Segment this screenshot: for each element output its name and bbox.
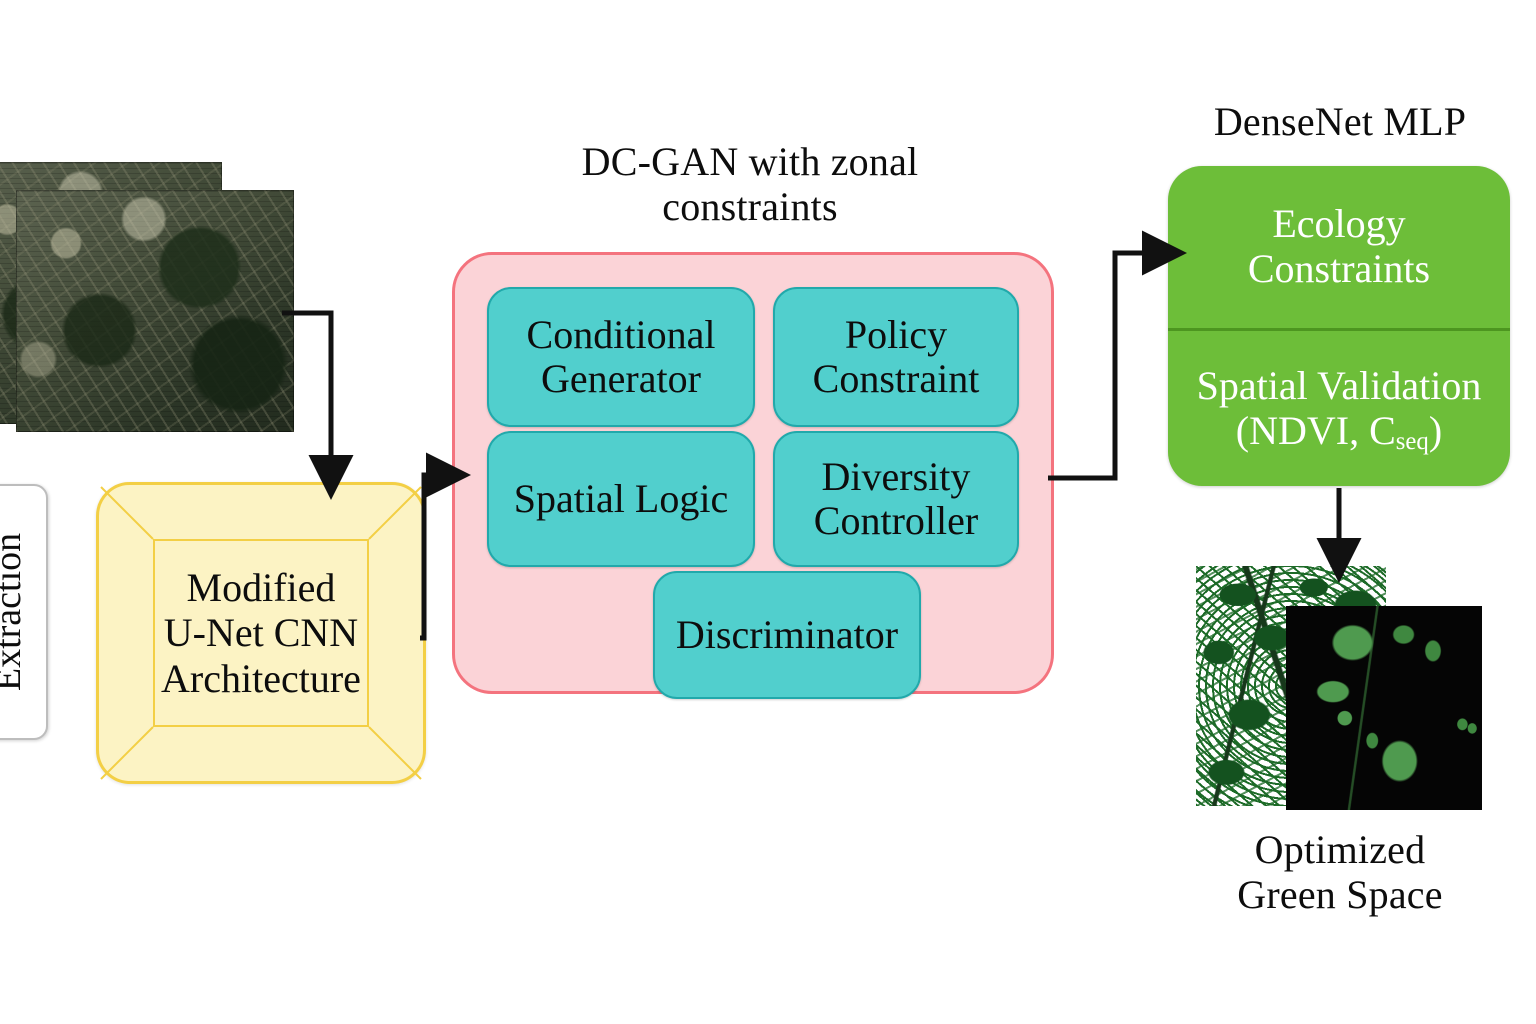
unet-architecture-box[interactable]: Modified U-Net CNN Architecture — [96, 482, 426, 784]
gan-title-line-2: constraints — [662, 184, 838, 229]
module-spatial-logic[interactable]: Spatial Logic — [487, 431, 755, 567]
arrow-gan-to-densenet — [1048, 253, 1152, 478]
unet-label-line-1: Modified — [187, 565, 336, 610]
satellite-image-front — [16, 190, 294, 432]
spatial-validation-line-1: Spatial Validation — [1197, 363, 1482, 408]
ecology-constraints-line-2: Constraints — [1248, 246, 1430, 291]
diversity-controller-line-1: Diversity — [822, 454, 971, 499]
unet-label: Modified U-Net CNN Architecture — [99, 485, 423, 781]
unet-label-line-3: Architecture — [161, 656, 361, 701]
output-caption-line-2: Green Space — [1237, 872, 1442, 917]
densenet-title-text: DenseNet MLP — [1214, 99, 1466, 144]
extraction-label: Extraction — [0, 533, 30, 691]
densenet-cell-ecology-constraints: Ecology Constraints — [1168, 166, 1510, 328]
diagram-canvas: Extraction Modified U-Net CNN Architectu… — [0, 0, 1536, 1024]
module-discriminator[interactable]: Discriminator — [653, 571, 921, 699]
policy-constraint-line-2: Constraint — [813, 356, 980, 401]
gan-section-title: DC-GAN with zonal constraints — [470, 140, 1030, 230]
module-diversity-controller[interactable]: Diversity Controller — [773, 431, 1019, 567]
discriminator-label: Discriminator — [676, 613, 898, 657]
conditional-generator-line-1: Conditional — [527, 312, 716, 357]
spatial-validation-suffix: ) — [1429, 408, 1442, 453]
ecology-constraints-line-1: Ecology — [1272, 201, 1405, 246]
gan-title-line-1: DC-GAN with zonal — [582, 139, 919, 184]
module-conditional-generator[interactable]: Conditional Generator — [487, 287, 755, 427]
spatial-validation-subscript: seq — [1396, 428, 1429, 455]
densenet-box[interactable]: Ecology Constraints Spatial Validation (… — [1168, 166, 1510, 486]
extraction-side-tab: Extraction — [0, 484, 48, 740]
output-caption: Optimized Green Space — [1160, 828, 1520, 918]
conditional-generator-line-2: Generator — [541, 356, 701, 401]
output-caption-line-1: Optimized — [1255, 827, 1426, 872]
spatial-logic-label: Spatial Logic — [514, 477, 728, 521]
green-space-map-black — [1286, 606, 1482, 810]
densenet-section-title: DenseNet MLP — [1150, 100, 1530, 145]
densenet-cell-spatial-validation: Spatial Validation (NDVI, Cseq) — [1168, 331, 1510, 486]
unet-label-line-2: U-Net CNN — [164, 610, 358, 655]
module-policy-constraint[interactable]: Policy Constraint — [773, 287, 1019, 427]
policy-constraint-line-1: Policy — [845, 312, 947, 357]
gan-container: Conditional Generator Policy Constraint … — [452, 252, 1054, 694]
diversity-controller-line-2: Controller — [814, 498, 978, 543]
spatial-validation-prefix: (NDVI, C — [1236, 408, 1396, 453]
